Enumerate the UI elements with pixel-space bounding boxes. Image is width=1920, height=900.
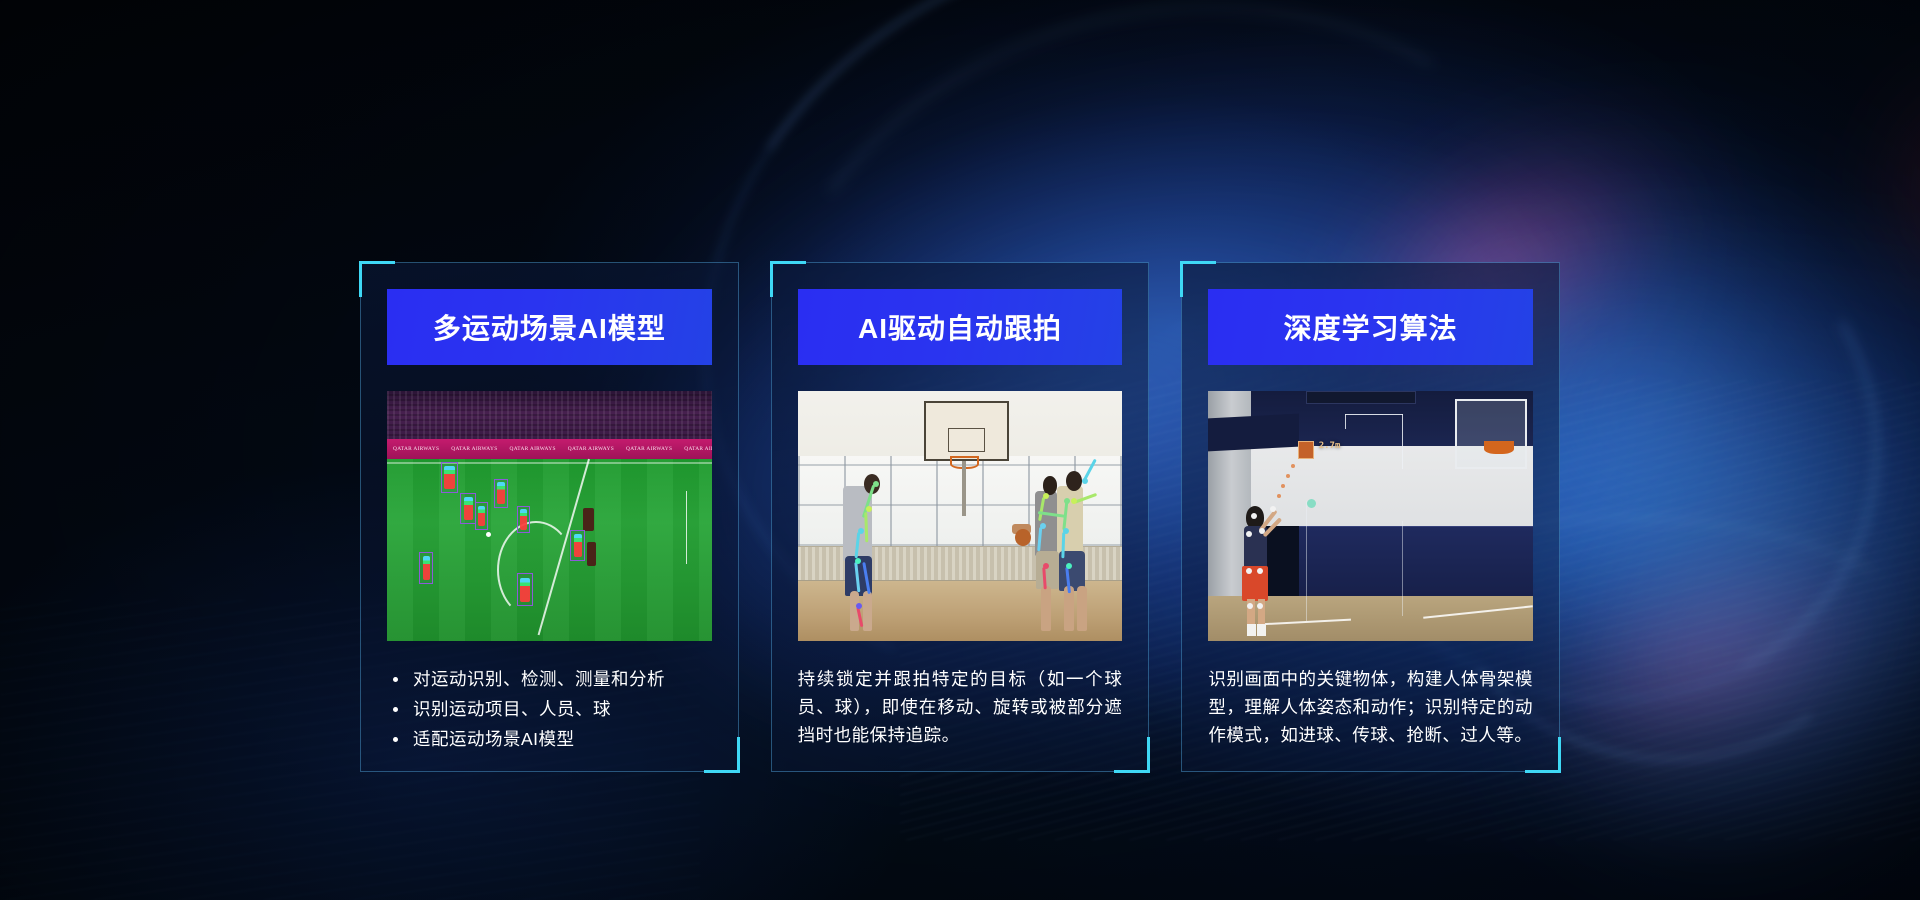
player-shorts bbox=[1036, 551, 1059, 589]
ball-trail-point bbox=[1291, 464, 1295, 468]
hoop-support-pole bbox=[962, 461, 966, 516]
pose-overlay bbox=[444, 466, 454, 489]
sponsor-text: QATAR AIRWAYS bbox=[504, 446, 562, 452]
joint bbox=[1246, 568, 1252, 574]
player-leg bbox=[1064, 586, 1074, 631]
card-title-banner: AI驱动自动跟拍 bbox=[798, 289, 1123, 365]
tracking-marker-icon bbox=[1307, 499, 1316, 508]
pitch-line bbox=[387, 462, 712, 464]
ball-trail-point bbox=[1286, 474, 1290, 478]
list-item: 适配运动场景AI模型 bbox=[387, 725, 712, 753]
joint bbox=[1259, 528, 1265, 534]
sponsor-banner: QATAR AIRWAYS QATAR AIRWAYS QATAR AIRWAY… bbox=[387, 439, 712, 460]
shot-trajectory-image: 2.7m bbox=[1208, 391, 1533, 641]
card-deep-learning-algorithm[interactable]: 深度学习算法 bbox=[1181, 262, 1560, 772]
feature-paragraph: 持续锁定并跟拍特定的目标（如一个球员、球），即使在移动、旋转或被部分遮挡时也能保… bbox=[798, 665, 1123, 749]
list-item: 对运动识别、检测、测量和分析 bbox=[387, 665, 712, 693]
sponsor-text: QATAR AIRWAYS bbox=[445, 446, 503, 452]
list-item: 识别运动项目、人员、球 bbox=[387, 695, 712, 723]
card-body-text: 识别画面中的关键物体，构建人体骨架模型，理解人体姿态和动作；识别特定的动作模式，… bbox=[1208, 665, 1533, 749]
trajectory-vertical-far bbox=[1402, 521, 1404, 616]
player-torso bbox=[1057, 486, 1083, 556]
card-title-banner: 多运动场景AI模型 bbox=[387, 289, 712, 365]
detection-box[interactable] bbox=[517, 573, 533, 606]
trajectory-vertical-mid bbox=[1306, 501, 1308, 621]
ball-detection-box[interactable] bbox=[1298, 441, 1314, 459]
card-title-banner: 深度学习算法 bbox=[1208, 289, 1533, 365]
pose-overlay bbox=[574, 534, 582, 557]
player-head bbox=[1066, 471, 1082, 491]
feature-cards-row: 多运动场景AI模型 QATAR AIRWAYS QATAR AIRWAYS QA… bbox=[360, 262, 1560, 772]
ball-trail-point bbox=[1277, 494, 1281, 498]
pose-overlay bbox=[464, 497, 473, 520]
card-multi-sport-ai-model[interactable]: 多运动场景AI模型 QATAR AIRWAYS QATAR AIRWAYS QA… bbox=[360, 262, 739, 772]
detection-box[interactable] bbox=[517, 506, 531, 533]
basketball-rim bbox=[1484, 441, 1513, 454]
joint bbox=[1251, 513, 1257, 519]
card-title: AI驱动自动跟拍 bbox=[858, 307, 1062, 347]
detection-box[interactable] bbox=[419, 552, 433, 585]
card-media-soccer: QATAR AIRWAYS QATAR AIRWAYS QATAR AIRWAY… bbox=[387, 391, 712, 641]
soccer-detection-image: QATAR AIRWAYS QATAR AIRWAYS QATAR AIRWAY… bbox=[387, 391, 712, 641]
player-head bbox=[1043, 476, 1058, 495]
sponsor-text: QATAR AIRWAYS bbox=[678, 446, 711, 452]
pitch-arc bbox=[497, 521, 575, 620]
soccer-pitch bbox=[387, 459, 712, 642]
player-torso bbox=[843, 486, 872, 561]
sponsor-text: QATAR AIRWAYS bbox=[562, 446, 620, 452]
joint bbox=[1246, 531, 1252, 537]
scoreboard bbox=[1306, 391, 1416, 404]
detection-box[interactable] bbox=[570, 530, 584, 561]
detection-box[interactable] bbox=[494, 479, 508, 508]
feature-bullet-list: 对运动识别、检测、测量和分析 识别运动项目、人员、球 适配运动场景AI模型 bbox=[387, 665, 712, 753]
player-undetected bbox=[587, 542, 597, 566]
joint bbox=[1257, 568, 1263, 574]
basketball-backboard bbox=[924, 401, 1008, 461]
trajectory-vertical-start bbox=[1345, 414, 1347, 429]
backboard-inner-square bbox=[948, 428, 985, 453]
detection-box[interactable] bbox=[475, 502, 489, 529]
card-title: 多运动场景AI模型 bbox=[433, 307, 666, 347]
player-leg bbox=[850, 591, 860, 631]
pose-overlay bbox=[423, 556, 430, 581]
card-body-text: 持续锁定并跟拍特定的目标（如一个球员、球），即使在移动、旋转或被部分遮挡时也能保… bbox=[798, 665, 1123, 749]
player-sock bbox=[1247, 624, 1256, 637]
joint bbox=[1270, 506, 1276, 512]
player-shorts bbox=[1059, 551, 1085, 591]
card-media-trajectory: 2.7m bbox=[1208, 391, 1533, 641]
card-body-text: 对运动识别、检测、测量和分析 识别运动项目、人员、球 适配运动场景AI模型 bbox=[387, 665, 712, 753]
sponsor-text: QATAR AIRWAYS bbox=[387, 446, 445, 452]
slide-stage: 多运动场景AI模型 QATAR AIRWAYS QATAR AIRWAYS QA… bbox=[0, 0, 1920, 900]
joint bbox=[1247, 603, 1253, 609]
card-media-gym bbox=[798, 391, 1123, 641]
card-ai-auto-tracking[interactable]: AI驱动自动跟拍 bbox=[771, 262, 1150, 772]
gym-wall-padding bbox=[1299, 526, 1533, 596]
player-sock bbox=[1257, 624, 1266, 637]
player-leg bbox=[863, 591, 873, 631]
feature-paragraph: 识别画面中的关键物体，构建人体骨架模型，理解人体姿态和动作；识别特定的动作模式，… bbox=[1208, 665, 1533, 749]
gym-skeleton-image bbox=[798, 391, 1123, 641]
player-leg bbox=[1041, 586, 1051, 631]
player-head bbox=[864, 474, 880, 494]
trajectory-horizontal bbox=[1345, 414, 1403, 416]
stadium-crowd bbox=[387, 391, 712, 441]
pose-overlay bbox=[478, 506, 485, 526]
player-leg bbox=[1077, 586, 1087, 631]
player-torso bbox=[1035, 491, 1058, 556]
player-undetected bbox=[583, 508, 593, 532]
pose-overlay bbox=[497, 482, 504, 504]
soccer-ball bbox=[486, 532, 491, 537]
joint bbox=[1257, 603, 1263, 609]
trajectory-vertical-end bbox=[1402, 414, 1404, 469]
gym-left-band bbox=[1208, 414, 1299, 451]
card-title: 深度学习算法 bbox=[1284, 307, 1458, 347]
detection-box[interactable] bbox=[441, 462, 459, 493]
pose-overlay bbox=[520, 509, 527, 529]
ball-trail-point bbox=[1281, 484, 1285, 488]
player-shorts bbox=[845, 556, 873, 596]
sponsor-text: QATAR AIRWAYS bbox=[620, 446, 678, 452]
basketball-backboard bbox=[1455, 399, 1526, 469]
pitch-line bbox=[686, 491, 688, 564]
pose-overlay bbox=[520, 578, 529, 603]
distance-label: 2.7m bbox=[1319, 441, 1341, 451]
